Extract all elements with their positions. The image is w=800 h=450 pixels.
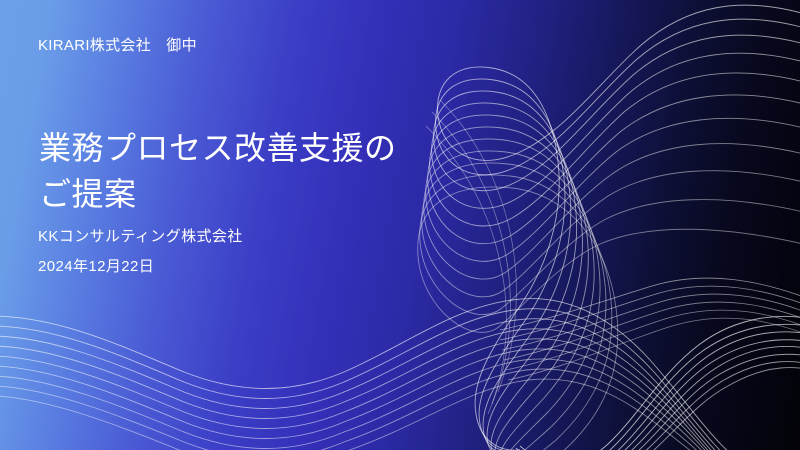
presentation-date: 2024年12月22日	[38, 256, 154, 277]
page-title: 業務プロセス改善支援の ご提案	[39, 125, 397, 217]
addressee-line: KIRARI株式会社 御中	[38, 36, 197, 56]
slide-text-layer: KIRARI株式会社 御中 業務プロセス改善支援の ご提案 KKコンサルティング…	[0, 0, 800, 450]
title-slide: KIRARI株式会社 御中 業務プロセス改善支援の ご提案 KKコンサルティング…	[0, 0, 800, 450]
title-line-1: 業務プロセス改善支援の	[39, 125, 397, 171]
company-name: KKコンサルティング株式会社	[38, 226, 243, 247]
title-line-2: ご提案	[39, 171, 397, 217]
